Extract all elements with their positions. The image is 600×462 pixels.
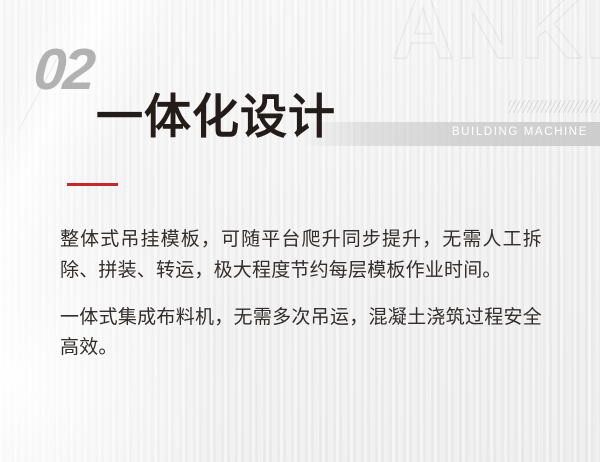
body-paragraph-1: 整体式吊挂模板，可随平台爬升同步提升，无需人工拆除、拼装、转运，极大程度节约每层…: [60, 224, 542, 286]
section-number: 02: [32, 41, 95, 99]
body-content: 整体式吊挂模板，可随平台爬升同步提升，无需人工拆除、拼装、转运，极大程度节约每层…: [60, 224, 542, 363]
title-accent-rule: [67, 183, 118, 186]
slide-canvas: ANKE 02 BUILDING MACHINE 一体化设计 整体式吊挂模板，可…: [0, 0, 600, 462]
brand-watermark-text: ANKE: [392, 0, 600, 72]
page-title: 一体化设计: [96, 94, 336, 141]
tagline-text: BUILDING MACHINE: [452, 126, 588, 138]
diagonal-hatch-decoration: [508, 100, 600, 113]
body-paragraph-2: 一体式集成布料机，无需多次吊运，混凝土浇筑过程安全高效。: [60, 302, 542, 364]
